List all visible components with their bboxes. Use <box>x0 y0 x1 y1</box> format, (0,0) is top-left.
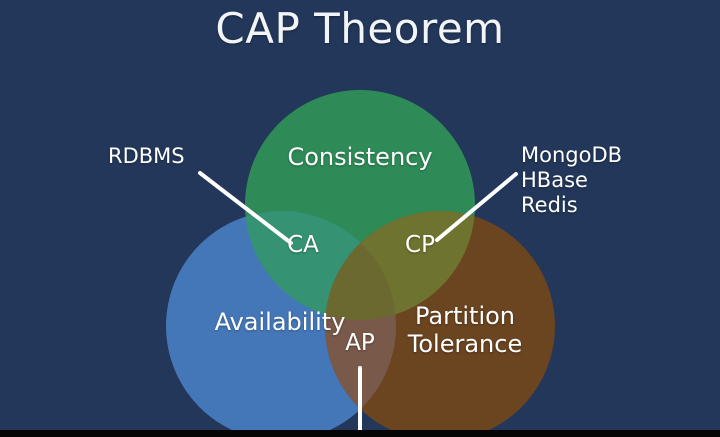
slide-canvas: CAP Theorem <box>0 0 720 430</box>
callout-nosql-line2: HBase <box>521 168 622 193</box>
label-ca: CA <box>268 232 338 259</box>
label-ap: AP <box>325 330 395 357</box>
slide-screenshot: CAP Theorem <box>0 0 720 437</box>
label-partition-tolerance-line1: Partition <box>390 302 540 330</box>
callout-nosql: MongoDB HBase Redis <box>521 143 622 218</box>
label-consistency: Consistency <box>245 143 475 171</box>
callout-nosql-line1: MongoDB <box>521 143 622 168</box>
label-partition-tolerance-line2: Tolerance <box>390 330 540 358</box>
callout-rdbms: RDBMS <box>108 144 185 169</box>
letterbox-bar-bottom <box>0 430 720 437</box>
label-cp: CP <box>385 232 455 259</box>
callout-nosql-line3: Redis <box>521 193 622 218</box>
label-partition-tolerance: Partition Tolerance <box>390 302 540 359</box>
